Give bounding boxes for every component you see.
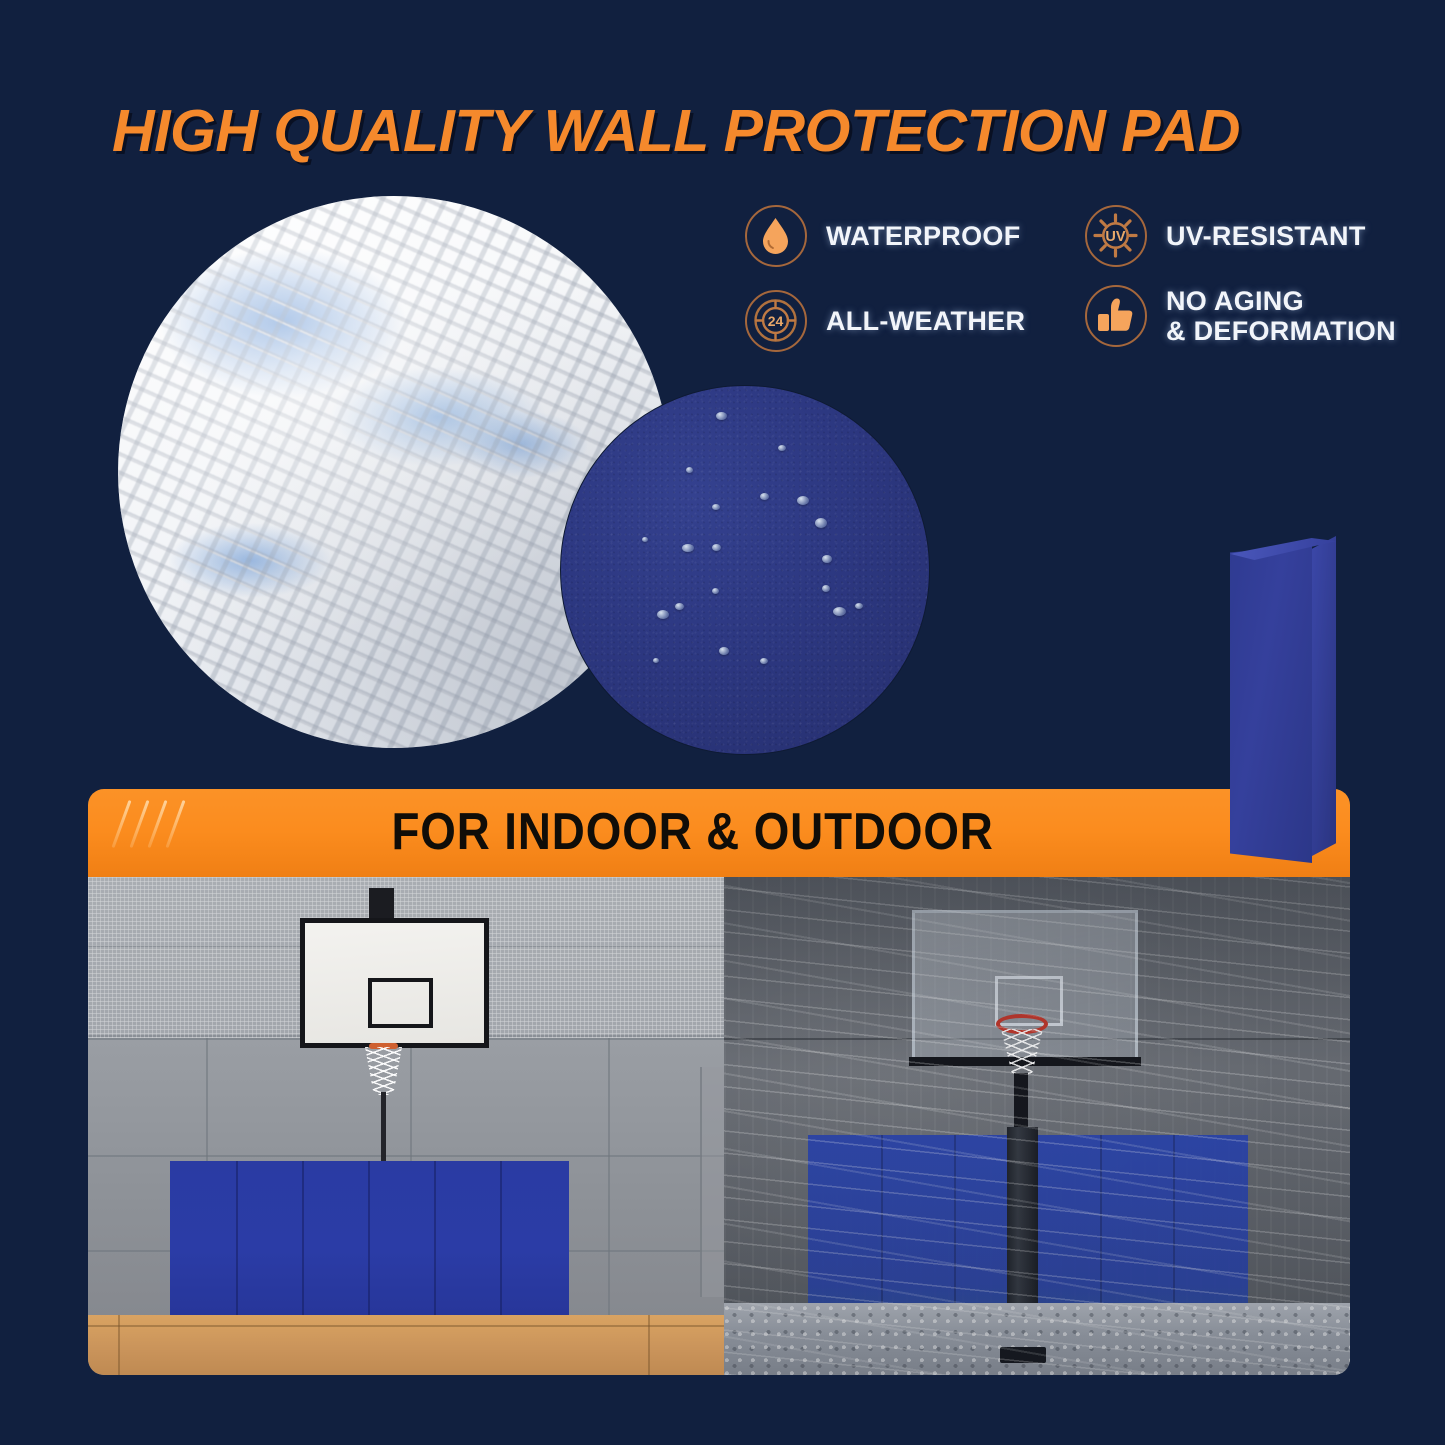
pad-front-face [1230,546,1312,863]
water-bead [778,445,786,451]
indoor-outdoor-banner: FOR INDOOR & OUTDOOR [88,789,1350,877]
feature-list: WATERPROOF UV [745,200,1405,385]
gym-wood-floor [88,1315,724,1375]
indoor-blue-wall-pad [170,1161,569,1315]
feature-label-line2: & DEFORMATION [1166,316,1396,346]
feature-waterproof: WATERPROOF [745,205,1021,267]
vinyl-texture [561,386,929,754]
backboard-support-pole [381,1092,386,1164]
feature-label: WATERPROOF [826,221,1021,251]
water-bead [686,467,693,473]
blue-vinyl-water-bead-closeup [560,385,930,755]
feature-uv-resistant: UV UV-RESISTANT [1085,205,1366,267]
water-bead [822,585,830,592]
water-bead [642,537,648,542]
basketball-backboard [300,918,489,1048]
svg-text:24: 24 [768,313,784,329]
banner-title: FOR INDOOR & OUTDOOR [164,789,1275,877]
water-droplet-icon [745,205,807,267]
svg-text:UV: UV [1105,229,1125,245]
water-bead [833,607,846,616]
thumbs-up-icon [1085,285,1147,347]
standing-wall-pad-render [1230,528,1336,863]
backboard-inner-square [368,978,433,1028]
feature-label: UV-RESISTANT [1166,221,1366,251]
uv-sun-icon: UV [1085,205,1147,267]
storm-shading [724,877,1350,1375]
photo-strip [88,877,1350,1375]
feature-label: NO AGING & DEFORMATION [1166,286,1396,346]
clock-24-icon: 24 [745,290,807,352]
water-bead [712,504,720,510]
water-bead [797,496,809,505]
page-title: HIGH QUALITY WALL PROTECTION PAD [112,96,1312,166]
gym-door [700,1067,724,1297]
feature-all-weather: 24 ALL-WEATHER [745,290,1025,352]
water-bead [760,493,769,500]
indoor-gym-photo [88,877,724,1375]
feature-no-aging: NO AGING & DEFORMATION [1085,285,1396,347]
outdoor-rain-photo [724,877,1350,1375]
water-bead [716,412,727,420]
pad-side-face [1312,536,1336,856]
feature-label-line1: NO AGING [1166,286,1304,316]
infographic-canvas: HIGH QUALITY WALL PROTECTION PAD [0,0,1445,1445]
feature-label: ALL-WEATHER [826,306,1025,336]
